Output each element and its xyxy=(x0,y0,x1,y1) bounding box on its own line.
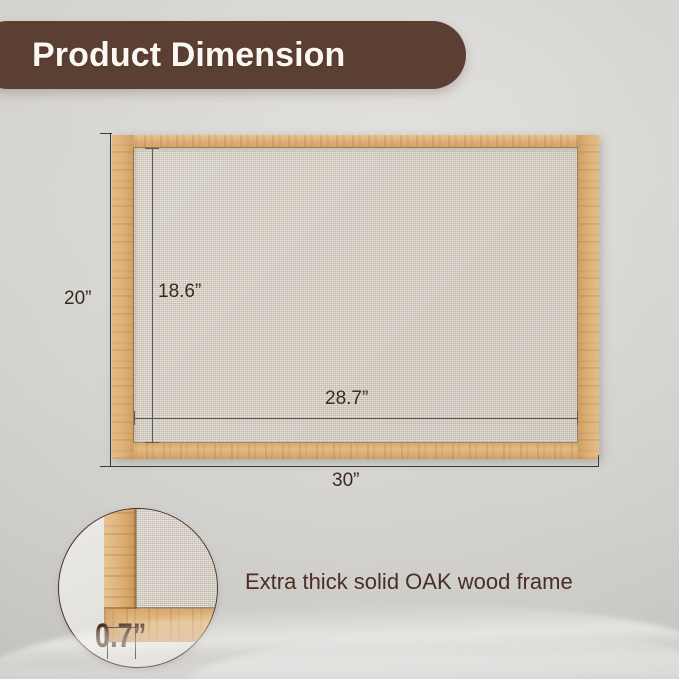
dimension-line-outer-height xyxy=(110,133,111,467)
frame-rail-bottom xyxy=(112,443,599,459)
label-frame-thickness: 0.7” xyxy=(95,617,146,656)
label-inner-height: 18.6” xyxy=(158,281,201,303)
magnifier-corner-detail: 0.7” xyxy=(58,508,218,668)
dimension-tick-inner-height-bottom xyxy=(145,442,159,443)
dimension-line-inner-width xyxy=(134,418,578,419)
dimension-line-outer-width xyxy=(110,466,599,467)
dimension-tick-outer-width-right xyxy=(598,455,599,467)
frame-rail-left xyxy=(112,135,134,459)
magnified-linen-surface xyxy=(131,508,218,615)
dimension-tick-inner-width-left xyxy=(134,411,135,425)
label-outer-width: 30” xyxy=(332,470,359,492)
dimension-line-inner-height xyxy=(152,148,153,443)
dimension-tick-inner-width-right xyxy=(577,411,578,425)
dimension-tick-outer-height-top xyxy=(100,133,112,134)
label-outer-height: 20” xyxy=(64,288,91,310)
frame-rail-top xyxy=(112,135,599,148)
magnified-frame-stile xyxy=(104,508,136,619)
page-title: Product Dimension xyxy=(32,38,345,72)
dimension-tick-inner-height-top xyxy=(145,148,159,149)
label-inner-width: 28.7” xyxy=(325,388,368,410)
feature-caption: Extra thick solid OAK wood frame xyxy=(245,569,573,595)
frame-rail-right xyxy=(578,135,599,459)
magnified-frame-inner-edge xyxy=(134,508,137,611)
background-wave-2 xyxy=(180,628,679,679)
infographic-canvas: Product Dimension 20” 18.6” 28.7” 30” 0.… xyxy=(0,0,679,679)
header-banner: Product Dimension xyxy=(0,21,466,89)
